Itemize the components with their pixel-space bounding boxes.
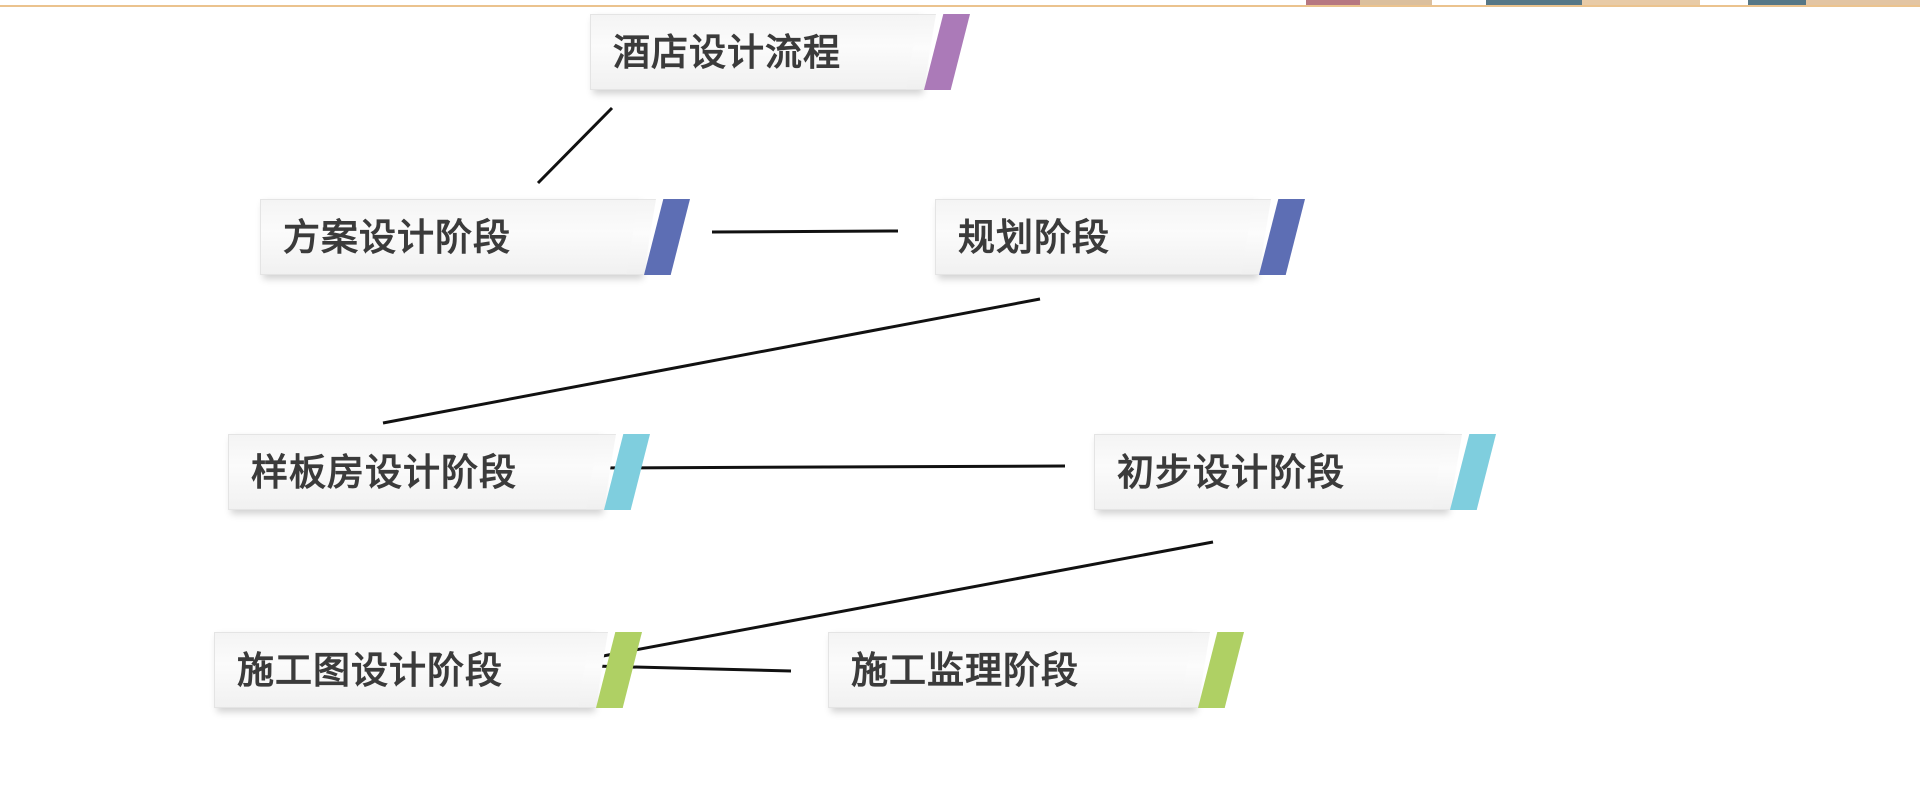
node-label: 施工图设计阶段: [215, 652, 517, 689]
node-hotel-design-process[interactable]: 酒店设计流程: [590, 14, 982, 90]
top-strip-fragment: [1582, 0, 1700, 5]
top-decorative-strip: [0, 0, 1920, 7]
node-planning-stage[interactable]: 规划阶段: [935, 199, 1317, 275]
node-label: 方案设计阶段: [261, 219, 525, 256]
node-body: 样板房设计阶段: [228, 434, 600, 510]
node-preliminary-design-stage[interactable]: 初步设计阶段: [1094, 434, 1508, 510]
top-strip-fragment: [1486, 0, 1582, 5]
node-scheme-design-stage[interactable]: 方案设计阶段: [260, 199, 702, 275]
node-body: 初步设计阶段: [1094, 434, 1446, 510]
node-label: 初步设计阶段: [1095, 454, 1359, 491]
node-label: 规划阶段: [936, 219, 1124, 256]
link-title-to-scheme: [538, 108, 612, 183]
node-body: 施工监理阶段: [828, 632, 1194, 708]
diagram-canvas: 酒店设计流程方案设计阶段规划阶段样板房设计阶段初步设计阶段施工图设计阶段施工监理…: [0, 0, 1920, 787]
top-strip-fragment: [1806, 0, 1920, 5]
node-body: 规划阶段: [935, 199, 1255, 275]
node-construction-supervision-stage[interactable]: 施工监理阶段: [828, 632, 1256, 708]
node-body: 施工图设计阶段: [214, 632, 592, 708]
node-construction-drawing-design-stage[interactable]: 施工图设计阶段: [214, 632, 654, 708]
link-planning-to-model: [383, 299, 1040, 423]
node-body: 方案设计阶段: [260, 199, 640, 275]
top-strip-fragment: [1748, 0, 1806, 5]
link-model-to-preliminary: [591, 466, 1065, 468]
top-strip-fragment: [1306, 0, 1360, 5]
top-strip-fragment: [1360, 0, 1432, 5]
top-rule-line: [0, 5, 1920, 7]
node-label: 样板房设计阶段: [229, 454, 531, 491]
node-body: 酒店设计流程: [590, 14, 920, 90]
link-scheme-to-planning: [712, 231, 898, 232]
node-label: 酒店设计流程: [591, 34, 855, 71]
node-label: 施工监理阶段: [829, 652, 1093, 689]
node-model-room-design-stage[interactable]: 样板房设计阶段: [228, 434, 662, 510]
